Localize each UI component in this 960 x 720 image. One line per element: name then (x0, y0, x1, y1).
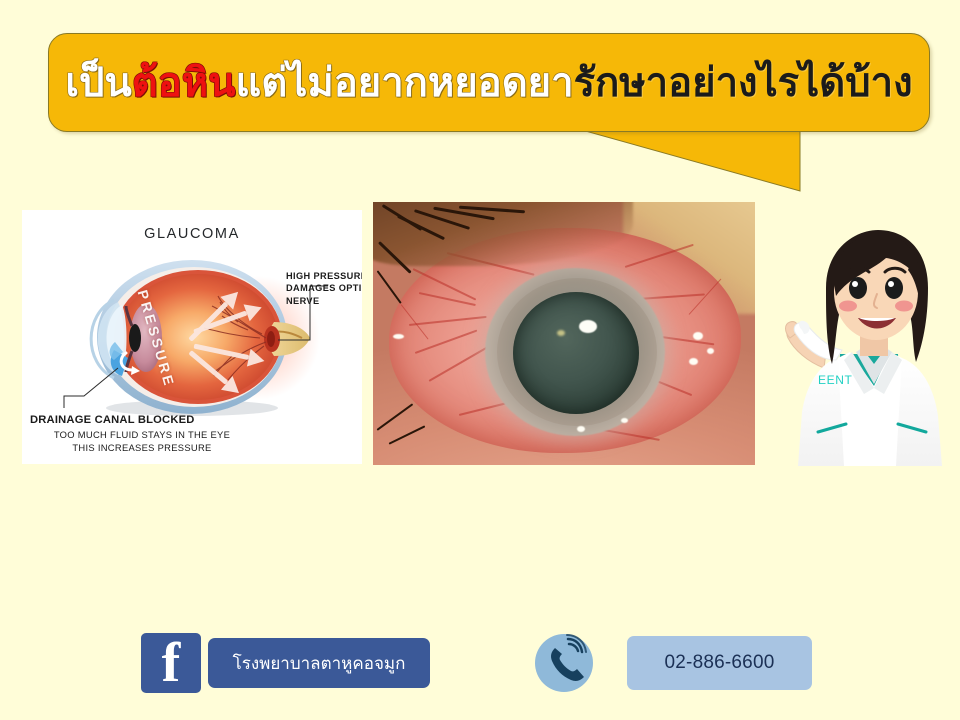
callout-drainage-line3: THIS INCREASES PRESSURE (22, 442, 262, 455)
callout-drainage-line2: TOO MUCH FLUID STAYS IN THE EYE (22, 429, 262, 442)
eye-photo-secondary-reflection (557, 330, 565, 336)
doctor-cheek-left (839, 301, 857, 312)
doctor-cheek-right (895, 301, 913, 312)
headline-text: เป็นต้อหิน แต่ไม่อยากหยอดยา รักษาอย่างไร… (48, 33, 930, 132)
callout-high-pressure-line2: DAMAGES OPTIC NERVE (286, 283, 362, 305)
clinical-eye-photo (373, 202, 755, 465)
phone-icon[interactable] (535, 634, 593, 692)
phone-ringing-glyph (535, 634, 593, 692)
doctor-svg (778, 226, 960, 466)
doctor-eye-left (849, 277, 867, 299)
callout-high-pressure-line1: HIGH PRESSURE (286, 271, 362, 281)
glaucoma-diagram-image: GLAUCOMA (22, 210, 362, 464)
headline-segment-4: รักษาอย่างไรได้บ้าง (574, 63, 913, 103)
eye-photo-corneal-light-reflex (579, 320, 597, 333)
slide-canvas: เป็นต้อหิน แต่ไม่อยากหยอดยา รักษาอย่างไร… (0, 0, 960, 720)
headline-segment-1: เป็น (65, 63, 131, 103)
facebook-icon[interactable]: f (141, 633, 201, 693)
headline-speech-bubble: เป็นต้อหิน แต่ไม่อยากหยอดยา รักษาอย่างไร… (48, 33, 930, 193)
facebook-page-button[interactable]: โรงพยาบาลตาหูคอจมูก (208, 638, 430, 688)
headline-segment-3: แต่ไม่อยากหยอดยา (235, 63, 573, 103)
facebook-f-glyph: f (141, 633, 201, 693)
callout-drainage-title: DRAINAGE CANAL BLOCKED (30, 413, 280, 428)
doctor-coat-label: EENT (818, 373, 852, 387)
eye-photo-dilated-pupil (513, 292, 639, 414)
headline-segment-2: ต้อหิน (132, 63, 236, 103)
doctor-eye-right (885, 277, 903, 299)
doctor-character-illustration: EENT (778, 226, 960, 466)
diagram-callout-high-pressure: HIGH PRESSURE DAMAGES OPTIC NERVE (286, 270, 362, 307)
facebook-page-label: โรงพยาบาลตาหูคอจมูก (233, 650, 406, 677)
phone-number-button[interactable]: 02-886-6600 (627, 636, 812, 690)
phone-number-label: 02-886-6600 (665, 652, 775, 674)
